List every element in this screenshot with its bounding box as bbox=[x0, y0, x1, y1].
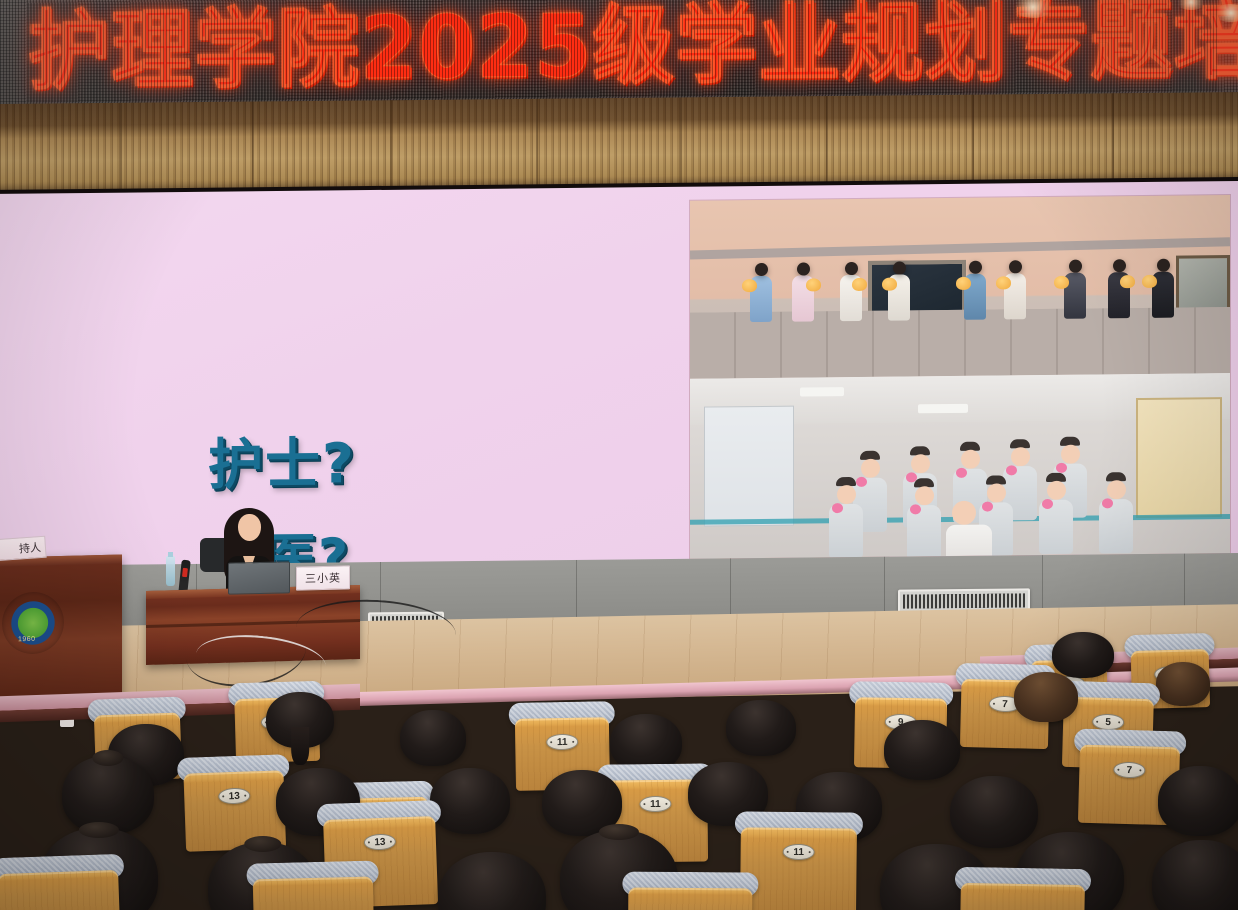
wall-poster-right bbox=[1136, 397, 1222, 518]
audience-head bbox=[1014, 672, 1078, 722]
slide-photo-collage bbox=[690, 195, 1230, 559]
audience-head bbox=[1158, 766, 1238, 836]
wall-band bbox=[690, 237, 1230, 259]
wall-poster-left bbox=[704, 406, 794, 527]
seat[interactable] bbox=[0, 866, 120, 910]
lecture-hall-photo: 护理学院2025级学业规划专题培训 护士? 中医? 中医护士? bbox=[0, 0, 1238, 910]
person-figure bbox=[1002, 260, 1028, 319]
nurse-figure bbox=[1098, 472, 1134, 553]
wood-seam bbox=[826, 96, 828, 188]
person-figure bbox=[1106, 259, 1132, 318]
projection-screen: 护士? 中医? 中医护士? bbox=[0, 181, 1238, 572]
seat-number: 11 bbox=[546, 734, 578, 751]
seat[interactable] bbox=[628, 884, 752, 910]
wood-seam bbox=[972, 95, 974, 187]
seat[interactable] bbox=[960, 879, 1085, 910]
person-figure bbox=[838, 262, 864, 321]
person-figure bbox=[886, 261, 912, 320]
seat-back bbox=[628, 888, 752, 910]
audience-head bbox=[400, 710, 466, 766]
seat-number: 11 bbox=[639, 796, 671, 812]
person-figure bbox=[1150, 259, 1176, 318]
seat-number: 7 bbox=[1113, 762, 1145, 779]
presenter-face bbox=[238, 514, 261, 541]
person-figure bbox=[962, 261, 988, 320]
wood-seam bbox=[252, 102, 254, 194]
seat-number: 5 bbox=[1092, 714, 1124, 731]
audience-seating: 1 3 15 13 11 bbox=[0, 618, 1238, 910]
presenter-nameplate-text: 三小英 bbox=[305, 570, 341, 587]
audience-head bbox=[726, 700, 796, 756]
seat[interactable]: 11 bbox=[740, 823, 857, 910]
seat[interactable]: 13 bbox=[183, 766, 286, 847]
presentation-slide: 护士? 中医? 中医护士? bbox=[0, 181, 1238, 572]
nurse-figure bbox=[1038, 473, 1074, 554]
audience-head bbox=[1152, 840, 1238, 910]
window bbox=[1176, 255, 1230, 314]
seat-back bbox=[960, 883, 1085, 910]
wood-seam bbox=[680, 97, 682, 189]
ceiling-panel bbox=[918, 404, 968, 414]
wood-seam bbox=[1112, 93, 1114, 185]
nurse-figure bbox=[906, 478, 942, 559]
seat-back bbox=[253, 877, 374, 910]
water-bottle bbox=[166, 556, 175, 586]
presenter-nameplate: 三小英 bbox=[296, 565, 350, 590]
seat-number: 13 bbox=[218, 787, 251, 804]
podium-host-sign-text: 持人 bbox=[18, 539, 41, 556]
wood-seam bbox=[390, 100, 392, 192]
slide-line-nurse: 护士? bbox=[208, 418, 356, 500]
person-figure bbox=[748, 263, 774, 322]
laptop bbox=[228, 561, 290, 594]
projection-screen-frame: 护士? 中医? 中医护士? bbox=[0, 177, 1238, 580]
audience-head bbox=[1156, 662, 1210, 706]
audience-head bbox=[266, 692, 334, 748]
slide-photo-outdoor-group bbox=[690, 195, 1230, 379]
ceiling-panel bbox=[800, 387, 844, 396]
person-figure bbox=[790, 262, 816, 321]
nurse-figure-front bbox=[946, 502, 982, 559]
audience-head bbox=[950, 776, 1038, 848]
audience-head bbox=[430, 768, 510, 834]
seat-back bbox=[0, 870, 120, 910]
seat-number: 13 bbox=[364, 833, 397, 850]
led-banner-text: 护理学院2025级学业规划专题培训 bbox=[28, 0, 1218, 103]
wood-seam bbox=[536, 99, 538, 191]
nurse-figure bbox=[828, 477, 864, 558]
seat[interactable] bbox=[253, 873, 374, 910]
wood-seam bbox=[120, 103, 122, 195]
slide-photo-nurses-group bbox=[690, 373, 1230, 559]
audience-head bbox=[1052, 632, 1114, 678]
audience-head bbox=[884, 720, 960, 780]
audience-head bbox=[438, 852, 546, 910]
seat-back: 11 bbox=[740, 827, 857, 910]
person-figure bbox=[1062, 260, 1088, 319]
seat-number: 11 bbox=[783, 844, 815, 860]
